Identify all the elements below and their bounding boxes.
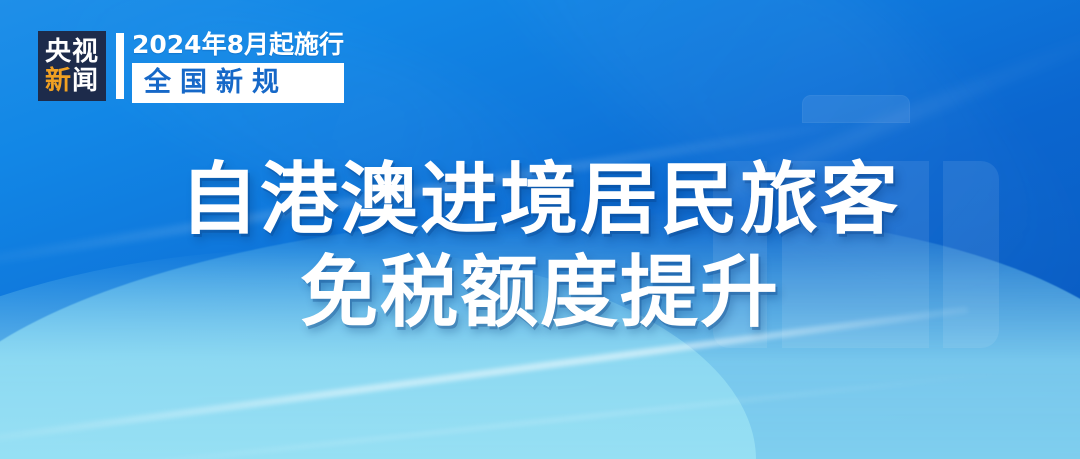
effective-date-label: 2024年8月起施行 (132, 31, 344, 59)
page-title: 自港澳进境居民旅客 免税额度提升 (0, 154, 1080, 340)
logo-char-xin: 新 (45, 66, 72, 96)
logo-char-wen: 闻 (72, 66, 99, 96)
suitcase-handle (802, 95, 910, 123)
category-badge: 全国新规 (132, 63, 344, 103)
logo-line-one: 央视 (45, 39, 99, 65)
title-line-one: 自港澳进境居民旅客 (0, 154, 1080, 247)
header-separator-bar (116, 33, 124, 99)
cctv-news-logo[interactable]: 央视 新闻 (38, 31, 106, 101)
logo-line-two: 新闻 (45, 68, 99, 94)
header-badge: 央视 新闻 2024年8月起施行 全国新规 (38, 31, 344, 103)
category-label: 全国新规 (144, 68, 332, 97)
title-line-two: 免税额度提升 (0, 247, 1080, 340)
news-poster: 央视 新闻 2024年8月起施行 全国新规 自港澳进境居民旅客 免税额度提升 (0, 0, 1080, 459)
header-text-group: 2024年8月起施行 全国新规 (132, 31, 344, 103)
